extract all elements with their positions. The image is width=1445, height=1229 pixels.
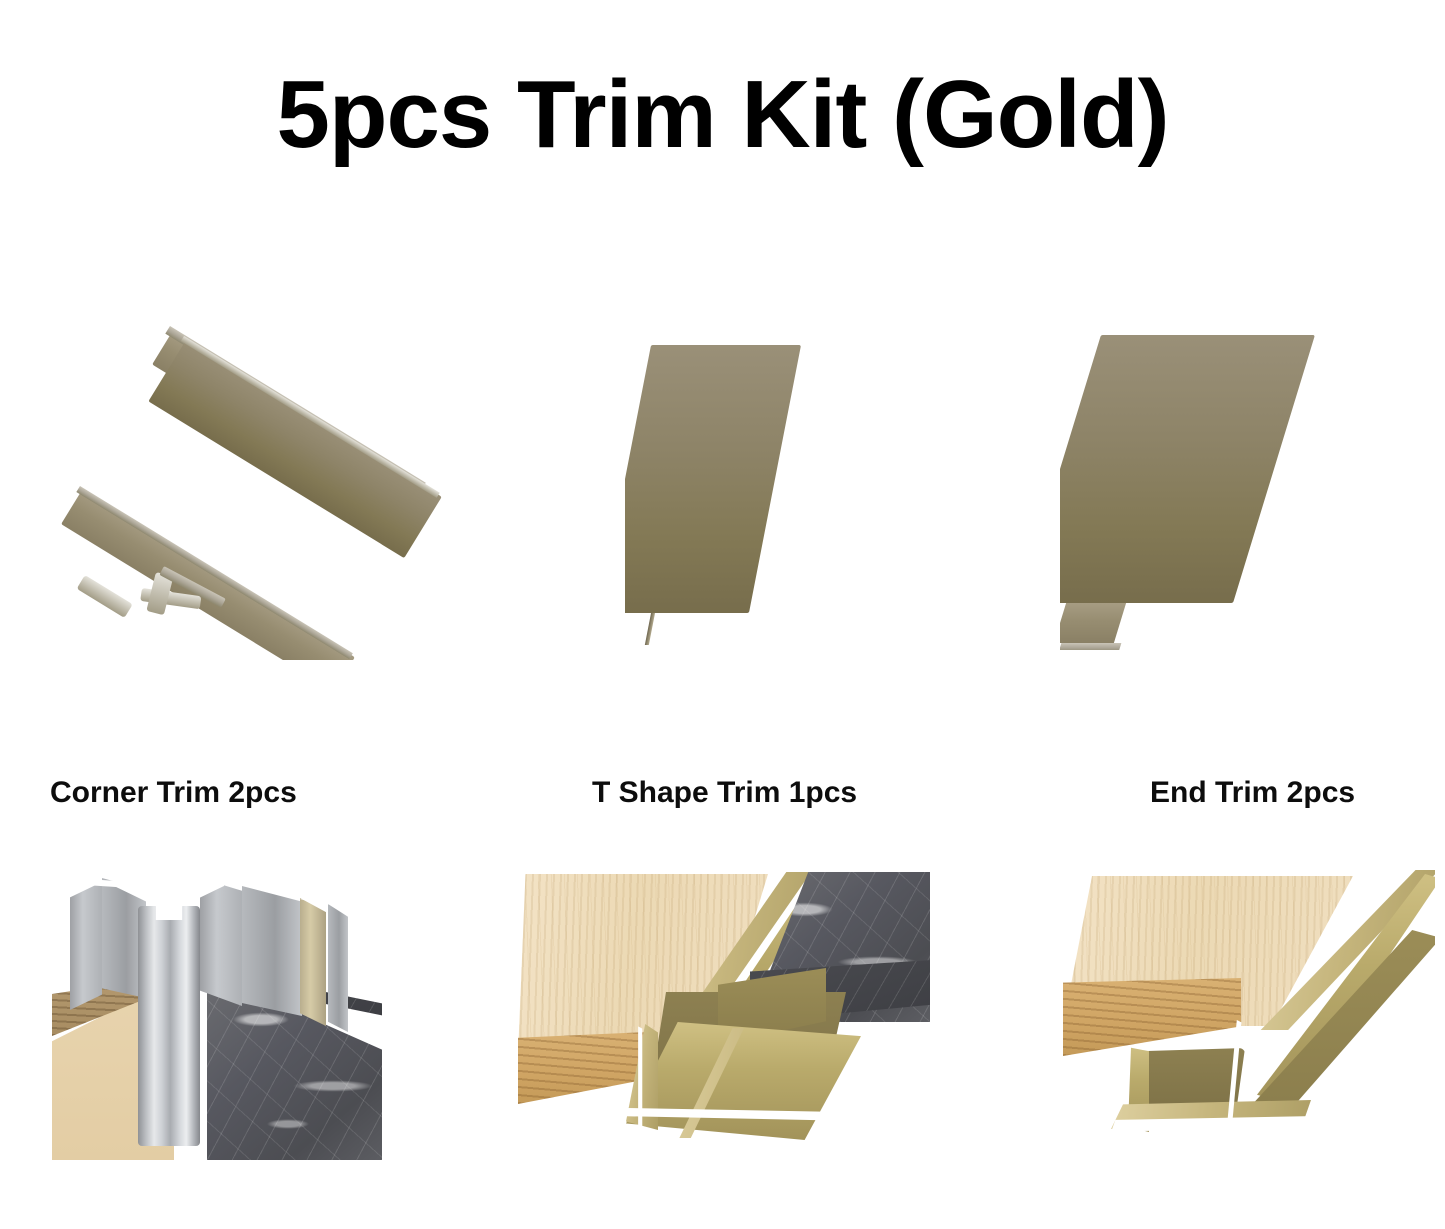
t-shape-trim-profile-photo [625,345,865,645]
end-trim-back-lip [1060,603,1126,643]
end-trim-caption: End Trim 2pcs [1150,775,1355,811]
corner-install-left-angle-face-a [70,882,102,1010]
corner-install-far-trim-b [328,904,348,1032]
corner-trim-caption: Corner Trim 2pcs [50,775,297,811]
t-shape-trim-groove [625,613,655,645]
end-trim-install-bottom-white-lip [1107,1116,1317,1144]
corner-trim-cut-end [77,575,133,618]
product-image-canvas: 5pcs Trim Kit (Gold) [0,0,1445,1229]
corner-install-right-angle-face-a [200,878,242,1006]
corner-trim-front-flange [148,340,441,558]
corner-install-rounded-corner-column [138,906,200,1146]
corner-trim-installation-photo [52,868,382,1160]
page-title: 5pcs Trim Kit (Gold) [0,60,1445,170]
corner-trim-lower-flange-edge [76,486,353,659]
end-trim-body [1060,335,1315,603]
end-trim-installation-photo [1045,870,1435,1160]
end-trim-back-lip-edge [1060,643,1121,650]
corner-trim-profile-photo [60,320,460,660]
end-trim-install-wood-edge [1063,978,1241,1056]
t-shape-install-wood-edge [518,1032,646,1104]
t-shape-trim-body [625,345,801,613]
corner-install-right-angle-face-b [242,886,302,1016]
corner-install-far-trim-a [300,898,326,1026]
t-shape-trim-installation-photo [518,872,930,1160]
end-trim-profile-photo [1060,335,1380,650]
t-shape-trim-caption: T Shape Trim 1pcs [592,775,857,811]
